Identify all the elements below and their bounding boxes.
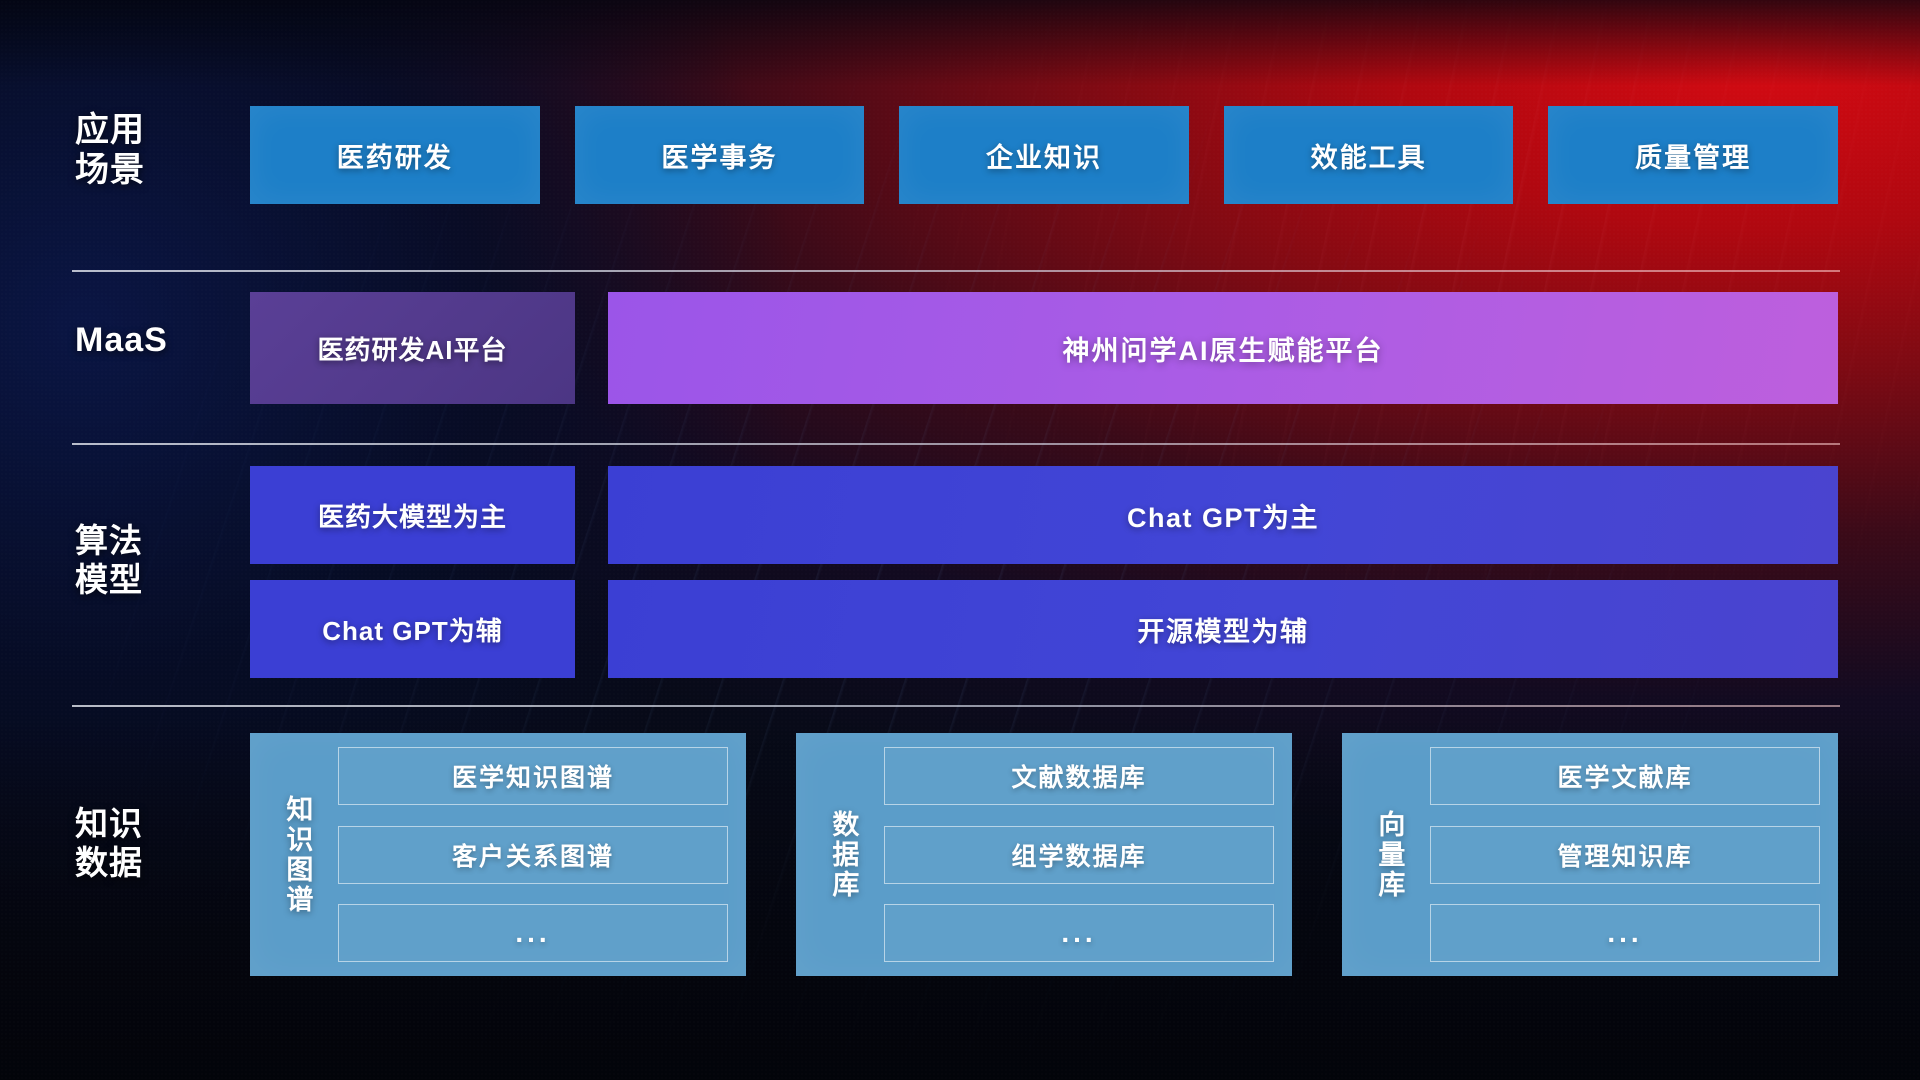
scenario-box-enterprise-knowledge[interactable]: 企业知识: [899, 106, 1189, 204]
row-label-line-1: 知识: [75, 805, 235, 844]
knowledge-panel-vertical-label: 向量库: [1356, 747, 1422, 962]
scenario-box-track: 医药研发 医学事务 企业知识 效能工具 质量管理: [250, 106, 1838, 204]
row-separator-2: [72, 443, 1840, 445]
knowledge-item-more-ellipsis[interactable]: ...: [1430, 904, 1820, 962]
scenario-box-efficiency-tools[interactable]: 效能工具: [1224, 106, 1514, 204]
knowledge-panel-knowledge-graph[interactable]: 知识图谱 医学知识图谱 客户关系图谱 ...: [250, 733, 746, 976]
knowledge-item-more-ellipsis[interactable]: ...: [884, 904, 1274, 962]
row-maas: MaaS 医药研发AI平台 神州问学AI原生赋能平台: [0, 292, 1920, 404]
maas-box-track: 医药研发AI平台 神州问学AI原生赋能平台: [250, 292, 1838, 404]
row-label-line-2: 数据: [75, 844, 235, 883]
knowledge-panel-vertical-label: 知识图谱: [264, 747, 330, 962]
knowledge-item-customer-relation-graph[interactable]: 客户关系图谱: [338, 826, 728, 884]
knowledge-item-list: 医学知识图谱 客户关系图谱 ...: [330, 747, 728, 962]
row-label-algorithm-models: 算法 模型: [75, 522, 235, 600]
knowledge-item-management-knowledge-store[interactable]: 管理知识库: [1430, 826, 1820, 884]
row-label-line-2: 场景: [75, 150, 235, 190]
row-label-maas: MaaS: [75, 320, 235, 360]
slide-canvas: 向量库 应用 场景 医药研发 医学事务 企业知识 效能工具 质量管理 MaaS …: [0, 0, 1920, 1080]
knowledge-panel-database[interactable]: 数据库 文献数据库 组学数据库 ...: [796, 733, 1292, 976]
row-separator-3: [72, 705, 1840, 707]
scenario-box-pharma-rd[interactable]: 医药研发: [250, 106, 540, 204]
row-separator-1: [72, 270, 1840, 272]
row-application-scenarios: 应用 场景 医药研发 医学事务 企业知识 效能工具 质量管理: [0, 106, 1920, 204]
knowledge-item-list: 医学文献库 管理知识库 ...: [1422, 747, 1820, 962]
maas-box-pharma-ai-platform[interactable]: 医药研发AI平台: [250, 292, 575, 404]
knowledge-item-medical-knowledge-graph[interactable]: 医学知识图谱: [338, 747, 728, 805]
row-label-line-1: 算法: [75, 522, 235, 561]
row-label-line-1: 应用: [75, 110, 235, 150]
knowledge-item-medical-literature-store[interactable]: 医学文献库: [1430, 747, 1820, 805]
algorithm-subrow-secondary: Chat GPT为辅 开源模型为辅: [250, 580, 1838, 678]
algorithm-box-chatgpt-primary[interactable]: Chat GPT为主: [608, 466, 1838, 564]
scenario-box-quality-management[interactable]: 质量管理: [1548, 106, 1838, 204]
maas-box-shenzhou-wenxue-platform[interactable]: 神州问学AI原生赋能平台: [608, 292, 1838, 404]
algorithm-box-pharma-llm-primary[interactable]: 医药大模型为主: [250, 466, 575, 564]
knowledge-item-literature-database[interactable]: 文献数据库: [884, 747, 1274, 805]
row-label-line-2: 模型: [75, 561, 235, 600]
row-label-application-scenarios: 应用 场景: [75, 110, 235, 190]
row-knowledge-data: 知识 数据 知识图谱 医学知识图谱 客户关系图谱 ... 数据库 文献数据库 组…: [0, 733, 1920, 976]
knowledge-item-more-ellipsis[interactable]: ...: [338, 904, 728, 962]
knowledge-panel-track: 知识图谱 医学知识图谱 客户关系图谱 ... 数据库 文献数据库 组学数据库 .…: [250, 733, 1838, 976]
algorithm-subrow-primary: 医药大模型为主 Chat GPT为主: [250, 466, 1838, 564]
row-algorithm-models: 算法 模型 医药大模型为主 Chat GPT为主 Chat GPT为辅 开源模型…: [0, 466, 1920, 678]
algorithm-box-opensource-secondary[interactable]: 开源模型为辅: [608, 580, 1838, 678]
row-label-knowledge-data: 知识 数据: [75, 805, 235, 883]
knowledge-item-list: 文献数据库 组学数据库 ...: [876, 747, 1274, 962]
scenario-box-medical-affairs[interactable]: 医学事务: [575, 106, 865, 204]
knowledge-item-omics-database[interactable]: 组学数据库: [884, 826, 1274, 884]
knowledge-panel-vertical-label: 数据库: [810, 747, 876, 962]
knowledge-panel-vector-store[interactable]: 向量库 医学文献库 管理知识库 ...: [1342, 733, 1838, 976]
algorithm-box-chatgpt-secondary[interactable]: Chat GPT为辅: [250, 580, 575, 678]
